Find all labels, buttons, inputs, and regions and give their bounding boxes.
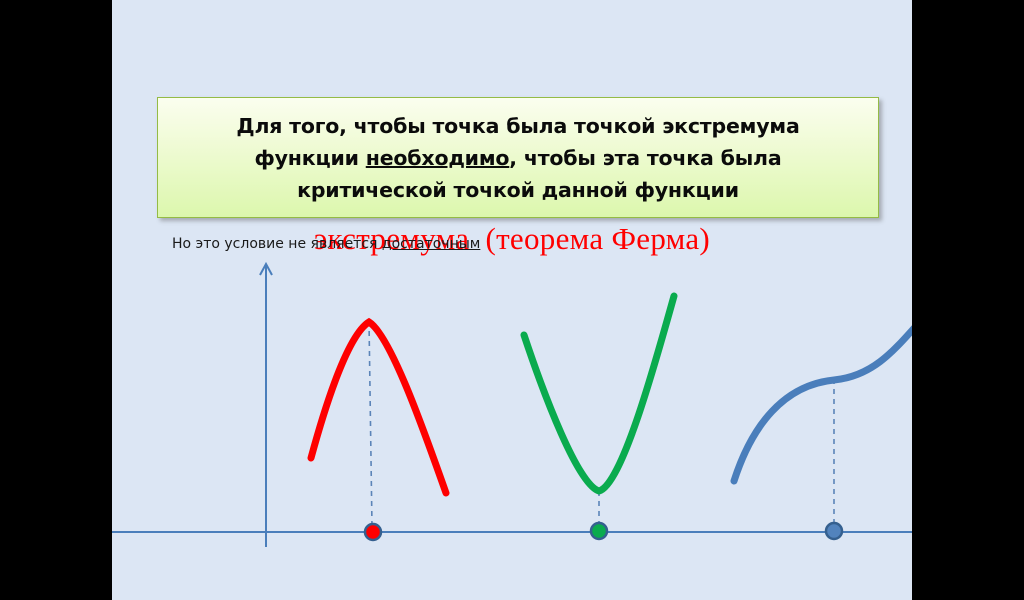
statement-line-2: функции необходимо, чтобы эта точка была: [158, 142, 878, 174]
graph-figure: [112, 255, 912, 555]
statement-line-2-before: функции: [255, 146, 366, 170]
axes-group: [112, 264, 912, 547]
critical-point-marker-maximum[interactable]: [365, 524, 381, 540]
statement-callout-box: Для того, чтобы точка была точкой экстре…: [157, 97, 879, 218]
subtitle-emphasis-dostatochnym: достаточным: [382, 236, 480, 252]
statement-line-1: Для того, чтобы точка была точкой экстре…: [158, 110, 878, 142]
critical-point-marker-inflection[interactable]: [826, 523, 842, 539]
subtitle-before: Но это условие не является: [172, 236, 382, 252]
statement-text: Для того, чтобы точка была точкой экстре…: [158, 110, 878, 206]
screenshot-stage: Необходимое условие существования экстре…: [0, 0, 1024, 600]
curve-inflection-cubic: [734, 296, 912, 481]
presentation-slide: Необходимое условие существования экстре…: [112, 0, 912, 600]
subtitle-note: Но это условие не является достаточным: [172, 234, 480, 254]
statement-emphasis-neobhodimo: необходимо: [366, 146, 510, 170]
curve-maximum-parabola: [311, 322, 446, 493]
graph-svg: [112, 255, 912, 555]
curve-minimum-parabola: [524, 296, 674, 491]
statement-line-3: критической точкой данной функции: [158, 174, 878, 206]
critical-point-marker-minimum[interactable]: [591, 523, 607, 539]
statement-line-1-text: Для того, чтобы точка была точкой экстре…: [236, 114, 799, 138]
statement-line-2-after: , чтобы эта точка была: [509, 146, 781, 170]
dashed-dropline-max: [369, 321, 372, 527]
statement-line-3-text: критической точкой данной функции: [297, 178, 739, 202]
